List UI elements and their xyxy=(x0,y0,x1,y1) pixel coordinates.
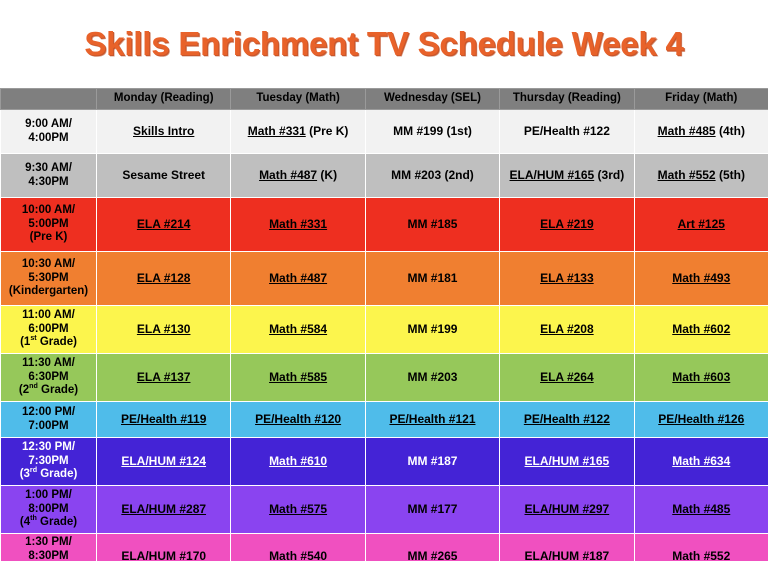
schedule-cell: MM #187 xyxy=(365,438,499,486)
table-row: 1:00 PM/8:00PM(4th Grade)ELA/HUM #287Mat… xyxy=(1,486,768,534)
schedule-cell: MM #181 xyxy=(365,252,499,306)
program-link[interactable]: ELA #130 xyxy=(137,322,191,336)
schedule-cell[interactable]: ELA #214 xyxy=(97,198,231,252)
program-plain-text: MM #177 xyxy=(407,502,457,516)
grade-suffix: Grade) xyxy=(37,468,77,480)
schedule-cell[interactable]: Math #487 xyxy=(231,252,365,306)
program-plain-text: (3rd) xyxy=(594,168,624,182)
program-link[interactable]: Math #331 xyxy=(248,124,306,138)
time-slot-cell: 11:00 AM/6:00PM(1st Grade) xyxy=(1,306,97,354)
schedule-cell[interactable]: ELA/HUM #170 xyxy=(97,534,231,561)
program-plain-text: (5th) xyxy=(716,168,745,182)
column-header-3: Wednesday (SEL) xyxy=(365,89,499,110)
program-link[interactable]: Math #634 xyxy=(672,454,730,468)
time-slot-cell: 10:30 AM/5:30PM(Kindergarten) xyxy=(1,252,97,306)
page-title: Skills Enrichment TV Schedule Week 4 xyxy=(84,25,683,63)
time-line: 5:30PM xyxy=(2,272,95,286)
page-title-container: Skills Enrichment TV Schedule Week 4 xyxy=(0,0,768,88)
column-header-1: Monday (Reading) xyxy=(97,89,231,110)
time-slot-cell: 9:30 AM/4:30PM xyxy=(1,154,97,198)
program-link[interactable]: Math #552 xyxy=(672,549,730,561)
schedule-cell[interactable]: PE/Health #126 xyxy=(634,402,768,438)
time-line: 7:00PM xyxy=(2,420,95,434)
time-line: 4:00PM xyxy=(2,132,95,146)
time-line: 1:30 PM/ xyxy=(2,536,95,550)
time-line: 11:30 AM/ xyxy=(2,357,95,371)
program-plain-text: Sesame Street xyxy=(122,168,205,182)
table-row: 11:30 AM/6:30PM(2nd Grade)ELA #137Math #… xyxy=(1,354,768,402)
schedule-cell[interactable]: Math #552 xyxy=(634,534,768,561)
schedule-cell[interactable]: Math #331 xyxy=(231,198,365,252)
program-link[interactable]: Math #331 xyxy=(269,217,327,231)
grade-suffix: Grade) xyxy=(37,516,77,528)
time-line: 12:30 PM/ xyxy=(2,441,95,455)
schedule-cell: MM #199 xyxy=(365,306,499,354)
program-link[interactable]: Art #125 xyxy=(678,217,725,231)
column-header-5: Friday (Math) xyxy=(634,89,768,110)
time-line: 9:30 AM/ xyxy=(2,162,95,176)
program-link[interactable]: PE/Health #119 xyxy=(121,412,206,426)
schedule-cell[interactable]: ELA #208 xyxy=(500,306,634,354)
schedule-cell: MM #265 xyxy=(365,534,499,561)
schedule-cell[interactable]: Math #575 xyxy=(231,486,365,534)
schedule-cell[interactable]: Math #585 xyxy=(231,354,365,402)
program-link[interactable]: ELA #137 xyxy=(137,370,191,384)
time-line: 1:00 PM/ xyxy=(2,489,95,503)
program-link[interactable]: ELA #219 xyxy=(540,217,594,231)
program-plain-text: (Pre K) xyxy=(306,124,349,138)
schedule-cell[interactable]: Art #125 xyxy=(634,198,768,252)
table-row: 11:00 AM/6:00PM(1st Grade)ELA #130Math #… xyxy=(1,306,768,354)
program-link[interactable]: PE/Health #121 xyxy=(389,412,475,426)
schedule-cell[interactable]: ELA/HUM #287 xyxy=(97,486,231,534)
program-link[interactable]: ELA #208 xyxy=(540,322,594,336)
time-line: (Kindergarten) xyxy=(2,285,95,299)
schedule-cell[interactable]: ELA #130 xyxy=(97,306,231,354)
time-slot-cell: 1:30 PM/8:30PM(5th Grade) xyxy=(1,534,97,561)
grade-ordinal-suffix: nd xyxy=(29,382,38,390)
schedule-cell[interactable]: PE/Health #119 xyxy=(97,402,231,438)
time-line: 10:30 AM/ xyxy=(2,258,95,272)
time-slot-cell: 1:00 PM/8:00PM(4th Grade) xyxy=(1,486,97,534)
schedule-cell[interactable]: ELA #137 xyxy=(97,354,231,402)
program-link[interactable]: PE/Health #120 xyxy=(255,412,341,426)
program-link[interactable]: ELA/HUM #297 xyxy=(525,502,610,516)
schedule-table-body: Monday (Reading)Tuesday (Math)Wednesday … xyxy=(1,89,768,561)
grade-prefix: (2 xyxy=(19,384,29,396)
grade-label: (3rd Grade) xyxy=(2,468,95,482)
schedule-cell[interactable]: PE/Health #121 xyxy=(365,402,499,438)
program-link[interactable]: ELA #264 xyxy=(540,370,594,384)
table-row: 9:00 AM/4:00PMSkills IntroMath #331 (Pre… xyxy=(1,110,768,154)
program-plain-text: MM #199 xyxy=(407,322,457,336)
program-link[interactable]: Math #540 xyxy=(269,549,327,561)
program-plain-text: (4th) xyxy=(716,124,745,138)
table-row: 10:30 AM/5:30PM(Kindergarten)ELA #128Mat… xyxy=(1,252,768,306)
grade-suffix: Grade) xyxy=(38,384,78,396)
program-link[interactable]: ELA/HUM #187 xyxy=(525,549,610,561)
program-link[interactable]: ELA #214 xyxy=(137,217,191,231)
program-link[interactable]: ELA/HUM #165 xyxy=(510,168,595,182)
schedule-cell: MM #203 xyxy=(365,354,499,402)
grade-prefix: (3 xyxy=(20,468,30,480)
program-link[interactable]: ELA/HUM #170 xyxy=(121,549,206,561)
schedule-cell[interactable]: Math #485 (4th) xyxy=(634,110,768,154)
time-line: (Pre K) xyxy=(2,231,95,245)
time-line: 8:00PM xyxy=(2,503,95,517)
schedule-cell[interactable]: ELA/HUM #187 xyxy=(500,534,634,561)
schedule-cell[interactable]: Math #634 xyxy=(634,438,768,486)
schedule-cell[interactable]: Math #485 xyxy=(634,486,768,534)
schedule-cell[interactable]: PE/Health #122 xyxy=(500,402,634,438)
program-link[interactable]: Math #487 xyxy=(269,271,327,285)
grade-ordinal-suffix: th xyxy=(30,514,37,522)
program-link[interactable]: Math #602 xyxy=(672,322,730,336)
program-plain-text: MM #187 xyxy=(407,454,457,468)
program-link[interactable]: Math #493 xyxy=(672,271,730,285)
schedule-cell[interactable]: ELA #219 xyxy=(500,198,634,252)
program-link[interactable]: Math #485 xyxy=(672,502,730,516)
program-link[interactable]: ELA #128 xyxy=(137,271,191,285)
table-header-row: Monday (Reading)Tuesday (Math)Wednesday … xyxy=(1,89,768,110)
schedule-cell[interactable]: ELA/HUM #165 xyxy=(500,438,634,486)
schedule-cell[interactable]: Math #602 xyxy=(634,306,768,354)
program-link[interactable]: PE/Health #126 xyxy=(658,412,744,426)
program-link[interactable]: ELA/HUM #124 xyxy=(121,454,206,468)
time-slot-cell: 12:00 PM/7:00PM xyxy=(1,402,97,438)
column-header-4: Thursday (Reading) xyxy=(500,89,634,110)
program-plain-text: PE/Health #122 xyxy=(524,124,610,138)
program-plain-text: MM #199 (1st) xyxy=(393,124,472,138)
program-plain-text: MM #185 xyxy=(407,217,457,231)
program-link[interactable]: Math #575 xyxy=(269,502,327,516)
schedule-cell[interactable]: ELA/HUM #124 xyxy=(97,438,231,486)
program-link[interactable]: Math #610 xyxy=(269,454,327,468)
time-line: 6:00PM xyxy=(2,323,95,337)
schedule-cell[interactable]: Math #493 xyxy=(634,252,768,306)
program-link[interactable]: Math #603 xyxy=(672,370,730,384)
schedule-cell[interactable]: Math #487 (K) xyxy=(231,154,365,198)
schedule-cell[interactable]: Math #552 (5th) xyxy=(634,154,768,198)
grade-label: (4th Grade) xyxy=(2,516,95,530)
schedule-cell[interactable]: ELA/HUM #165 (3rd) xyxy=(500,154,634,198)
schedule-table: Monday (Reading)Tuesday (Math)Wednesday … xyxy=(0,88,768,561)
program-link[interactable]: Math #552 xyxy=(658,168,716,182)
time-line: 9:00 AM/ xyxy=(2,118,95,132)
schedule-cell[interactable]: Math #540 xyxy=(231,534,365,561)
schedule-cell[interactable]: ELA #128 xyxy=(97,252,231,306)
table-corner-cell xyxy=(1,89,97,110)
program-link[interactable]: Math #487 xyxy=(259,168,317,182)
table-row: 9:30 AM/4:30PMSesame StreetMath #487 (K)… xyxy=(1,154,768,198)
schedule-cell[interactable]: Math #610 xyxy=(231,438,365,486)
time-slot-cell: 11:30 AM/6:30PM(2nd Grade) xyxy=(1,354,97,402)
table-row: 10:00 AM/5:00PM(Pre K)ELA #214Math #331M… xyxy=(1,198,768,252)
schedule-cell: PE/Health #122 xyxy=(500,110,634,154)
grade-ordinal-suffix: rd xyxy=(30,466,37,474)
schedule-cell: Sesame Street xyxy=(97,154,231,198)
schedule-page: Skills Enrichment TV Schedule Week 4 Mon… xyxy=(0,0,768,561)
schedule-cell: MM #199 (1st) xyxy=(365,110,499,154)
time-line: 6:30PM xyxy=(2,371,95,385)
time-slot-cell: 9:00 AM/4:00PM xyxy=(1,110,97,154)
time-slot-cell: 12:30 PM/7:30PM(3rd Grade) xyxy=(1,438,97,486)
time-line: 7:30PM xyxy=(2,455,95,469)
program-link[interactable]: ELA/HUM #287 xyxy=(121,502,206,516)
time-line: 12:00 PM/ xyxy=(2,406,95,420)
table-row: 12:30 PM/7:30PM(3rd Grade)ELA/HUM #124Ma… xyxy=(1,438,768,486)
program-plain-text: MM #265 xyxy=(407,549,457,561)
grade-label: (1st Grade) xyxy=(2,336,95,350)
program-link[interactable]: ELA/HUM #165 xyxy=(525,454,610,468)
schedule-cell[interactable]: Skills Intro xyxy=(97,110,231,154)
program-plain-text: MM #203 (2nd) xyxy=(391,168,474,182)
grade-label: (2nd Grade) xyxy=(2,384,95,398)
grade-prefix: (1 xyxy=(20,336,30,348)
schedule-cell: MM #185 xyxy=(365,198,499,252)
program-link[interactable]: PE/Health #122 xyxy=(524,412,610,426)
program-link[interactable]: Math #485 xyxy=(658,124,716,138)
program-plain-text: MM #181 xyxy=(407,271,457,285)
program-plain-text: (K) xyxy=(317,168,337,182)
schedule-cell[interactable]: ELA #133 xyxy=(500,252,634,306)
time-slot-cell: 10:00 AM/5:00PM(Pre K) xyxy=(1,198,97,252)
program-link[interactable]: ELA #133 xyxy=(540,271,594,285)
time-line: 10:00 AM/ xyxy=(2,204,95,218)
grade-prefix: (4 xyxy=(20,516,30,528)
schedule-cell[interactable]: ELA/HUM #297 xyxy=(500,486,634,534)
table-row: 1:30 PM/8:30PM(5th Grade)ELA/HUM #170Mat… xyxy=(1,534,768,561)
table-row: 12:00 PM/7:00PMPE/Health #119PE/Health #… xyxy=(1,402,768,438)
schedule-cell: MM #177 xyxy=(365,486,499,534)
time-line: 11:00 AM/ xyxy=(2,309,95,323)
program-link[interactable]: Math #585 xyxy=(269,370,327,384)
time-line: 5:00PM xyxy=(2,218,95,232)
schedule-cell: MM #203 (2nd) xyxy=(365,154,499,198)
program-link[interactable]: Math #584 xyxy=(269,322,327,336)
program-plain-text: MM #203 xyxy=(407,370,457,384)
time-line: 4:30PM xyxy=(2,176,95,190)
program-link[interactable]: Skills Intro xyxy=(133,124,194,138)
schedule-cell[interactable]: PE/Health #120 xyxy=(231,402,365,438)
schedule-cell[interactable]: Math #603 xyxy=(634,354,768,402)
schedule-cell[interactable]: ELA #264 xyxy=(500,354,634,402)
schedule-cell[interactable]: Math #331 (Pre K) xyxy=(231,110,365,154)
time-line: 8:30PM xyxy=(2,550,95,561)
column-header-2: Tuesday (Math) xyxy=(231,89,365,110)
grade-suffix: Grade) xyxy=(37,336,77,348)
schedule-cell[interactable]: Math #584 xyxy=(231,306,365,354)
